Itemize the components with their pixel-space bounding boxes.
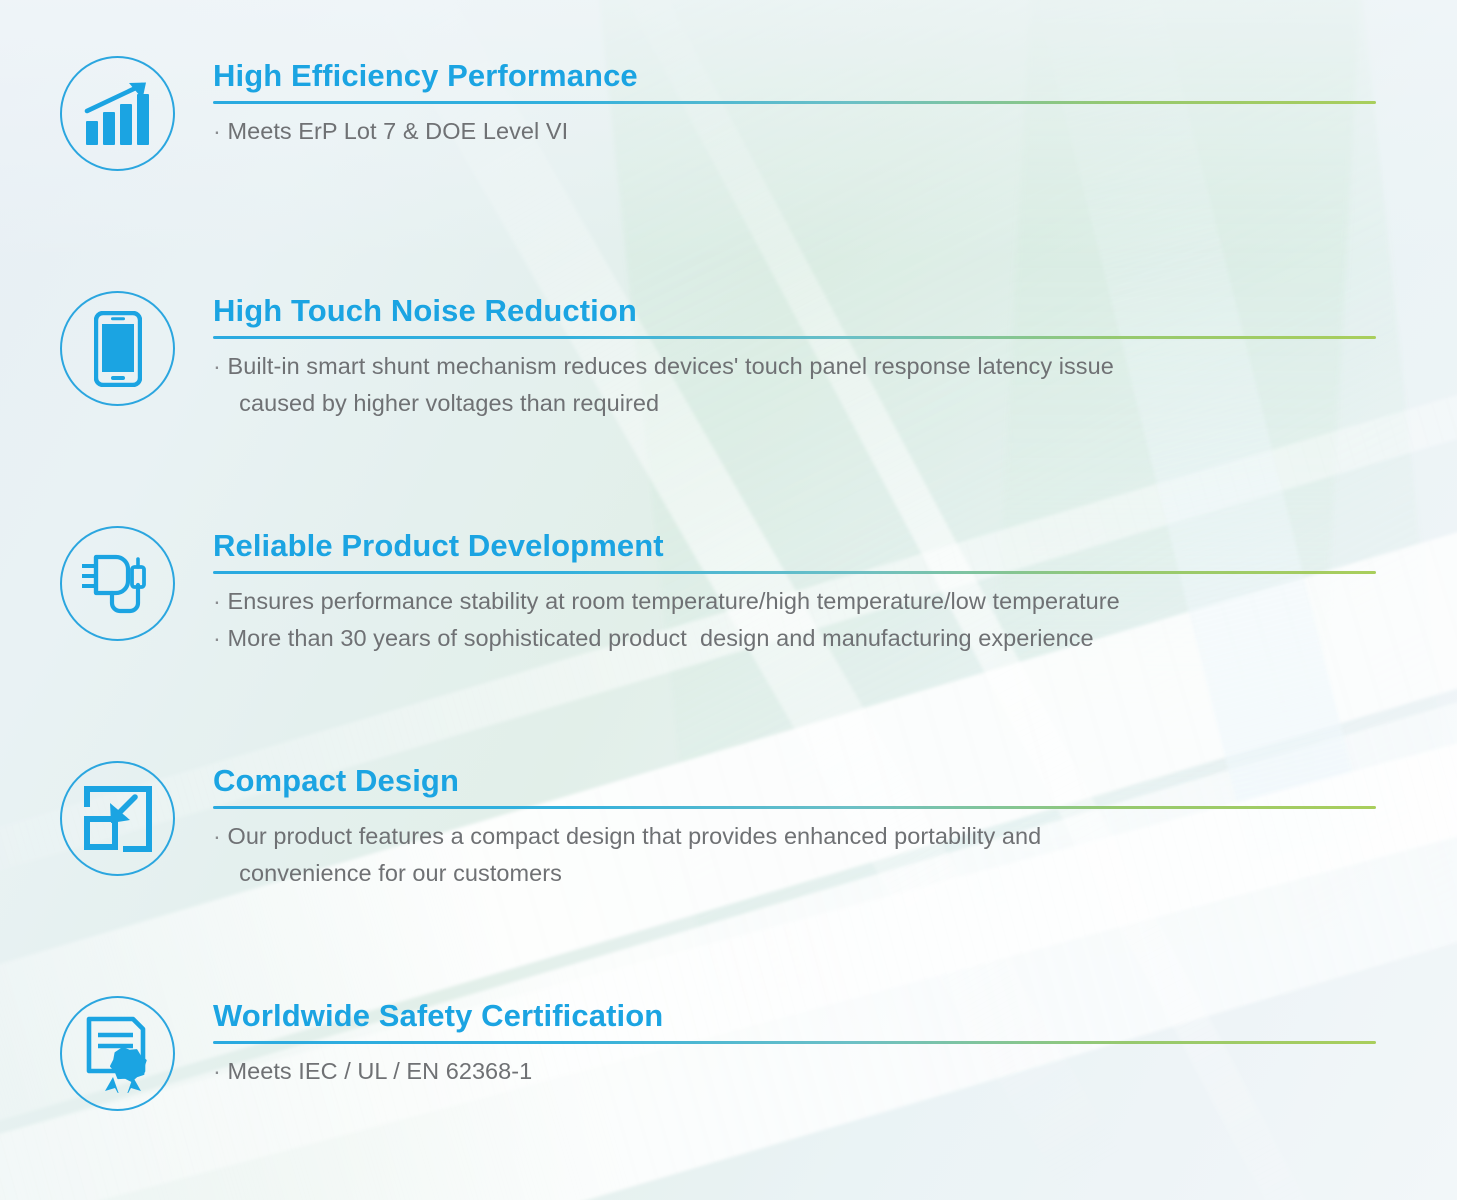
feature-content: Compact Design· Our product features a c… — [213, 761, 1376, 892]
feature-content: High Touch Noise Reduction· Built-in sma… — [213, 291, 1376, 422]
feature-content: High Efficiency Performance· Meets ErP L… — [213, 56, 1376, 150]
bullet-marker: · — [213, 353, 221, 379]
bullet-marker: · — [213, 823, 221, 849]
feature-content: Worldwide Safety Certification· Meets IE… — [213, 996, 1376, 1090]
feature-title: High Efficiency Performance — [213, 56, 1376, 96]
feature-title: Worldwide Safety Certification — [213, 996, 1376, 1036]
certificate-award-icon — [60, 996, 175, 1111]
feature-sections: High Efficiency Performance· Meets ErP L… — [0, 0, 1457, 1200]
feature-bullet: · Our product features a compact design … — [213, 818, 1376, 892]
feature-bullet: · Built-in smart shunt mechanism reduces… — [213, 348, 1376, 422]
bullet-marker: · — [213, 588, 221, 614]
power-adapter-icon — [60, 526, 175, 641]
feature-bullet-text: More than 30 years of sophisticated prod… — [227, 625, 1093, 651]
feature-bullet: · Meets IEC / UL / EN 62368-1 — [213, 1053, 1376, 1090]
bullet-marker: · — [213, 1058, 221, 1084]
feature-icon-wrap — [60, 761, 175, 876]
feature-title: Reliable Product Development — [213, 526, 1376, 566]
feature-bullet: · More than 30 years of sophisticated pr… — [213, 620, 1376, 657]
feature-bullet-text: Ensures performance stability at room te… — [227, 588, 1119, 614]
feature-bullet-text: Built-in smart shunt mechanism reduces d… — [226, 353, 1114, 416]
bullet-marker: · — [213, 625, 221, 651]
feature-bullet-text: Meets ErP Lot 7 & DOE Level VI — [227, 118, 568, 144]
feature-title: Compact Design — [213, 761, 1376, 801]
feature-bullet: · Ensures performance stability at room … — [213, 583, 1376, 620]
feature-bullet: · Meets ErP Lot 7 & DOE Level VI — [213, 113, 1376, 150]
feature-content: Reliable Product Development· Ensures pe… — [213, 526, 1376, 657]
feature-icon-wrap — [60, 291, 175, 406]
feature-body: · Built-in smart shunt mechanism reduces… — [213, 339, 1376, 422]
compact-resize-icon — [60, 761, 175, 876]
feature-body: · Our product features a compact design … — [213, 809, 1376, 892]
feature-icon-wrap — [60, 996, 175, 1111]
feature-bullet-text: Meets IEC / UL / EN 62368-1 — [227, 1058, 532, 1084]
smartphone-icon — [60, 291, 175, 406]
feature-icon-wrap — [60, 56, 175, 171]
feature-icon-wrap — [60, 526, 175, 641]
bullet-marker: · — [213, 118, 221, 144]
feature-body: · Ensures performance stability at room … — [213, 574, 1376, 657]
feature-list-page: High Efficiency Performance· Meets ErP L… — [0, 0, 1457, 1200]
feature-title: High Touch Noise Reduction — [213, 291, 1376, 331]
feature-bullet-text: Our product features a compact design th… — [226, 823, 1041, 886]
feature-body: · Meets IEC / UL / EN 62368-1 — [213, 1044, 1376, 1090]
feature-body: · Meets ErP Lot 7 & DOE Level VI — [213, 104, 1376, 150]
growth-chart-icon — [60, 56, 175, 171]
